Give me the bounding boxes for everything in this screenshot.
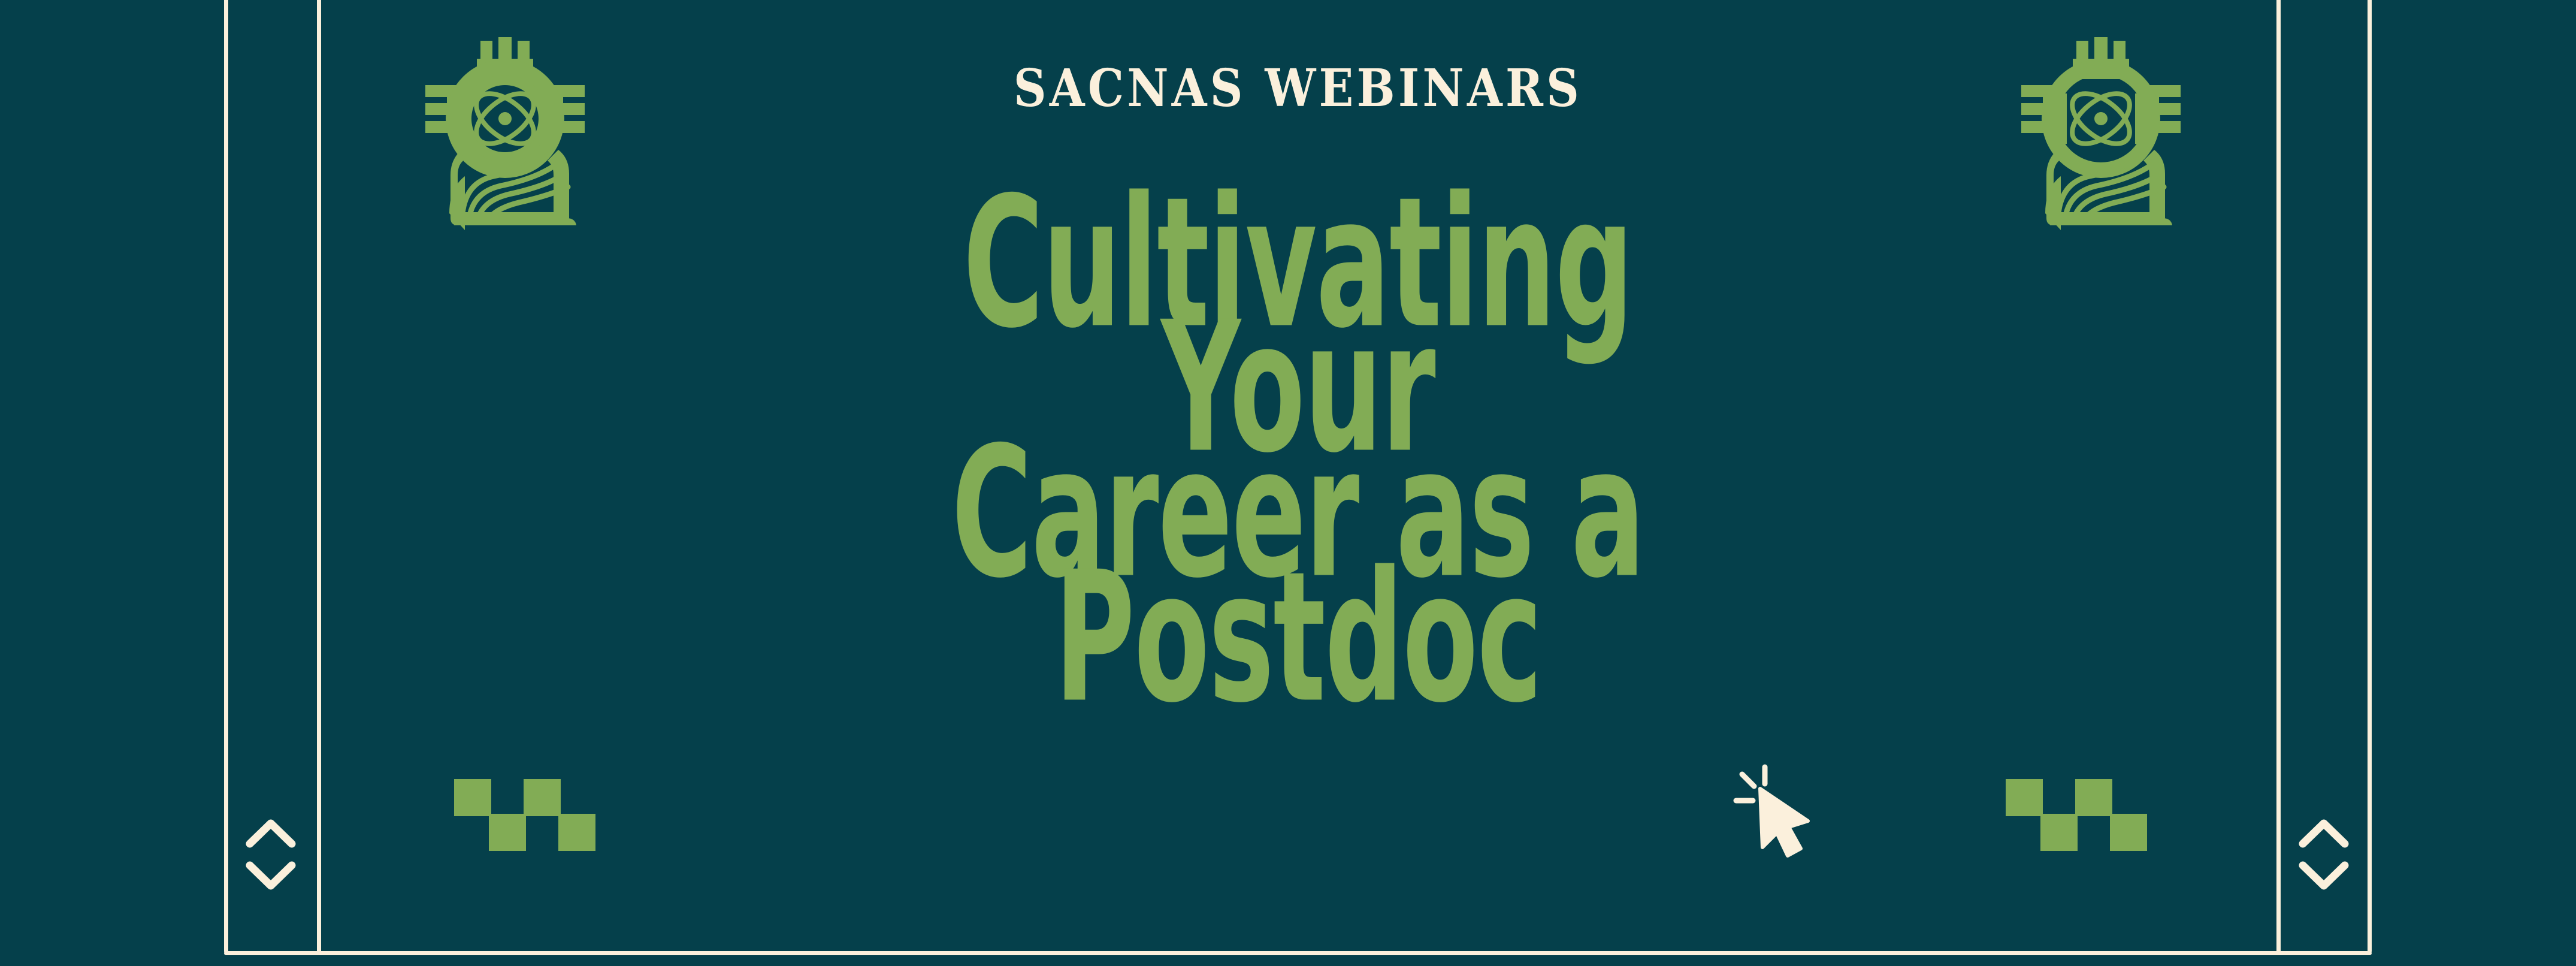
headline-line-4: Postdoc xyxy=(495,554,2100,722)
webinar-banner: SACNAS WEBINARS Cultivating Your Career … xyxy=(0,0,2576,966)
chevron-down-icon xyxy=(245,859,297,893)
eyebrow-label: SACNAS WEBINARS xyxy=(437,63,2159,114)
frame-rule-left-outer xyxy=(224,0,228,955)
chevron-up-icon xyxy=(2298,816,2350,850)
chevron-up-icon xyxy=(245,816,297,850)
page-title: Cultivating Your Career as a Postdoc xyxy=(319,180,2276,679)
banner-content: SACNAS WEBINARS Cultivating Your Career … xyxy=(319,0,2276,955)
frame-rule-right-inner xyxy=(2276,0,2281,955)
frame-rule-right-outer xyxy=(2368,0,2372,955)
chevron-pair-left xyxy=(245,816,297,894)
chevron-down-icon xyxy=(2298,859,2350,893)
chevron-pair-right xyxy=(2298,816,2350,894)
mouse-pointer-click-icon xyxy=(1725,749,1845,881)
